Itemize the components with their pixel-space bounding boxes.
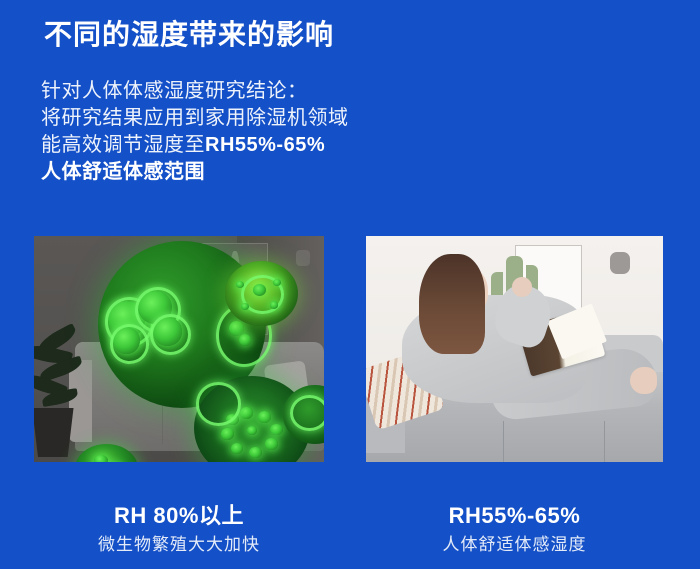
left-wall-thermostat-icon	[296, 250, 310, 266]
caption-left-subtitle: 微生物繁殖大大加快	[34, 533, 324, 557]
left-potted-plant	[34, 326, 98, 421]
woman-foot	[630, 367, 657, 394]
intro-paragraph: 针对人体体感湿度研究结论： 将研究结果应用到家用除湿机领域 能高效调节湿度至RH…	[41, 78, 349, 186]
intro-line-3-normal: 能高效调节湿度至	[41, 134, 205, 156]
intro-line-4: 人体舒适体感范围	[41, 159, 349, 186]
image-panel-comfort-humidity	[366, 236, 663, 462]
caption-high-humidity: RH 80%以上 微生物繁殖大大加快	[34, 502, 324, 557]
intro-line-2: 将研究结果应用到家用除湿机领域	[41, 105, 349, 132]
intro-line-1: 针对人体体感湿度研究结论：	[41, 78, 349, 105]
caption-comfort-humidity: RH55%-65% 人体舒适体感湿度	[366, 502, 663, 557]
microbe-cluster-top-right	[225, 261, 298, 327]
woman-hair	[419, 254, 484, 353]
right-sofa-seam-1	[503, 421, 504, 462]
caption-right-subtitle: 人体舒适体感湿度	[366, 533, 663, 557]
caption-left-title: RH 80%以上	[34, 502, 324, 530]
poster-canvas: 不同的湿度带来的影响 针对人体体感湿度研究结论： 将研究结果应用到家用除湿机领域…	[0, 0, 700, 569]
caption-right-title: RH55%-65%	[366, 502, 663, 530]
woman-hand	[512, 277, 533, 297]
intro-line-3-highlight: RH55%-65%	[205, 134, 325, 156]
intro-line-3: 能高效调节湿度至RH55%-65%	[41, 132, 349, 159]
right-sofa-seam-2	[604, 421, 605, 462]
image-panel-high-humidity	[34, 236, 324, 462]
page-title: 不同的湿度带来的影响	[44, 18, 334, 52]
right-wall-thermostat-icon	[610, 252, 630, 274]
